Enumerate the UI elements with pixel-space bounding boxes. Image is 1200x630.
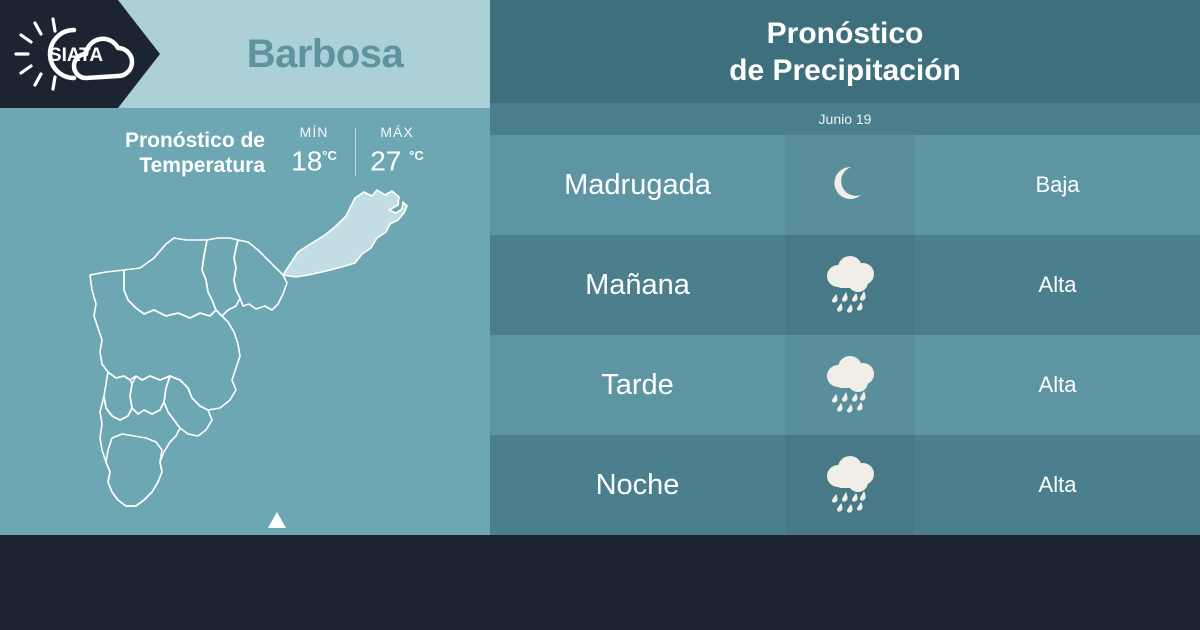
- city-title: Barbosa: [160, 0, 490, 108]
- map-region-sabaneta: [104, 372, 132, 420]
- period-cell: Madrugada: [490, 135, 785, 235]
- weather-icon-cell: [785, 135, 915, 235]
- probability-label: Baja: [1035, 172, 1079, 198]
- map-region-barbosa: [283, 190, 407, 277]
- temperature-title-line2: Temperatura: [60, 153, 265, 178]
- period-cell: Tarde: [490, 335, 785, 435]
- max-label: MÁX: [380, 124, 413, 140]
- map-region-itagui: [130, 376, 170, 414]
- period-cell: Mañana: [490, 235, 785, 335]
- probability-cell: Baja: [915, 135, 1200, 235]
- probability-cell: Alta: [915, 335, 1200, 435]
- siata-logo-banner: SIATA: [0, 0, 160, 108]
- period-cell: Noche: [490, 435, 785, 535]
- temperature-values: MÍN 18°C MÁX 27 °C: [283, 122, 428, 178]
- north-arrow-icon: N: [267, 512, 287, 535]
- probability-cell: Alta: [915, 235, 1200, 335]
- forecast-date: Junio 19: [819, 111, 872, 127]
- rain-cloud-icon: [818, 454, 882, 516]
- period-label: Noche: [596, 469, 680, 502]
- probability-label: Alta: [1039, 272, 1077, 298]
- min-value: 18: [291, 145, 322, 176]
- temperature-title-line1: Pronóstico de: [60, 128, 265, 153]
- map-svg: N: [50, 180, 490, 535]
- min-value-wrap: 18°C: [291, 141, 337, 176]
- rain-cloud-icon: [818, 354, 882, 416]
- map-region-girardota: [234, 240, 287, 310]
- map-region-caldas: [106, 434, 162, 506]
- map-region-bello: [124, 238, 216, 318]
- weather-icon-cell: [785, 235, 915, 335]
- period-label: Madrugada: [564, 169, 711, 202]
- left-header: SIATA Barbosa: [0, 0, 490, 108]
- weather-forecast-poster: SIATA Barbosa Pronóstico de Temperatura …: [0, 0, 1200, 630]
- moon-icon: [821, 156, 879, 214]
- sun-cloud-icon: SIATA: [12, 14, 140, 94]
- siata-logo-text: SIATA: [49, 45, 103, 66]
- temperature-max: MÁX 27 °C: [366, 124, 428, 178]
- table-row: Tarde: [490, 335, 1200, 435]
- precipitation-header: Pronóstico de Precipitación: [490, 0, 1200, 103]
- left-panel: SIATA Barbosa Pronóstico de Temperatura …: [0, 0, 490, 535]
- weather-icon-cell: [785, 435, 915, 535]
- min-unit: °C: [322, 148, 337, 163]
- map-region-la-estrella: [100, 396, 180, 506]
- map-region-copacabana: [202, 238, 240, 316]
- weather-icon-cell: [785, 335, 915, 435]
- temperature-title: Pronóstico de Temperatura: [60, 122, 265, 178]
- probability-label: Alta: [1039, 372, 1077, 398]
- map-region-envigado: [164, 376, 212, 436]
- temperature-divider: [355, 128, 356, 176]
- period-label: Mañana: [585, 269, 690, 302]
- max-unit: °C: [409, 148, 424, 163]
- min-label: MÍN: [300, 124, 329, 140]
- forecast-title-line2: de Precipitación: [729, 52, 961, 89]
- rain-cloud-icon: [818, 254, 882, 316]
- forecast-title-line1: Pronóstico: [767, 15, 924, 52]
- table-row: Madrugada Baja: [490, 135, 1200, 235]
- right-panel: Pronóstico de Precipitación Junio 19 Mad…: [490, 0, 1200, 535]
- forecast-date-band: Junio 19: [490, 103, 1200, 135]
- probability-cell: Alta: [915, 435, 1200, 535]
- period-label: Tarde: [601, 369, 674, 402]
- temperature-min: MÍN 18°C: [283, 124, 345, 178]
- forecast-table: Madrugada Baja Mañana: [490, 135, 1200, 535]
- probability-label: Alta: [1039, 472, 1077, 498]
- table-row: Noche: [490, 435, 1200, 535]
- max-value: 27: [370, 145, 401, 176]
- max-value-wrap: 27 °C: [370, 141, 424, 176]
- footer: @siatamedellin www.siata.gov.co Con el a…: [0, 535, 1200, 630]
- table-row: Mañana: [490, 235, 1200, 335]
- map-region-medellin: [90, 270, 240, 410]
- aburra-valley-map: N: [50, 180, 490, 535]
